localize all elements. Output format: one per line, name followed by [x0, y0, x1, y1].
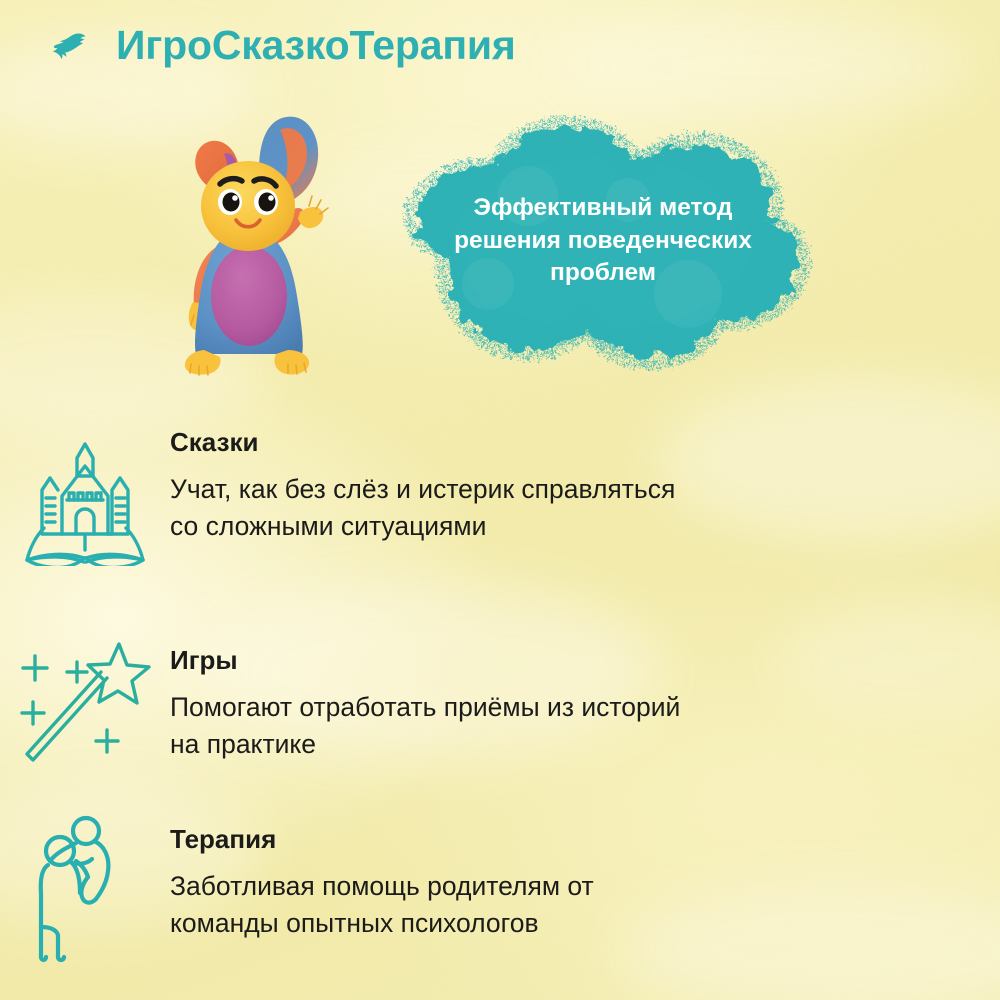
feature-item-igry: Игры Помогают отработать приёмы из истор… — [0, 628, 1000, 813]
highlight-line-3: проблем — [398, 257, 808, 290]
highlight-line-2: решения поведенческих — [398, 225, 808, 258]
mascot-character — [152, 110, 332, 380]
highlight-text: Эффективный метод решения поведенческих … — [398, 192, 808, 290]
feature-item-skazki: Сказки Учат, как без слёз и истерик спра… — [0, 418, 1000, 628]
feature-title: Терапия — [170, 825, 960, 854]
feature-title: Сказки — [170, 428, 960, 457]
feature-list: Сказки Учат, как без слёз и истерик спра… — [0, 418, 1000, 988]
feature-text-igry: Игры Помогают отработать приёмы из истор… — [170, 628, 1000, 764]
castle-book-icon — [0, 418, 170, 566]
feature-description: Учат, как без слёз и истерик справляться… — [170, 471, 690, 546]
page-title: ИгроСказкоТерапия — [116, 25, 516, 66]
brand-header: ИгроСказкоТерапия — [48, 22, 516, 68]
poster-canvas: ИгроСказкоТерапия — [0, 0, 1000, 1000]
magic-wand-icon — [0, 628, 170, 774]
bird-icon — [48, 22, 94, 68]
feature-item-terapia: Терапия Заботливая помощь родителям от к… — [0, 813, 1000, 988]
parent-child-icon — [0, 813, 170, 965]
feature-text-skazki: Сказки Учат, как без слёз и истерик спра… — [170, 418, 1000, 546]
feature-title: Игры — [170, 646, 960, 675]
feature-description: Помогают отработать приёмы из историй на… — [170, 689, 690, 764]
feature-text-terapia: Терапия Заботливая помощь родителям от к… — [170, 813, 1000, 943]
highlight-line-1: Эффективный метод — [398, 192, 808, 225]
feature-description: Заботливая помощь родителям от команды о… — [170, 868, 690, 943]
